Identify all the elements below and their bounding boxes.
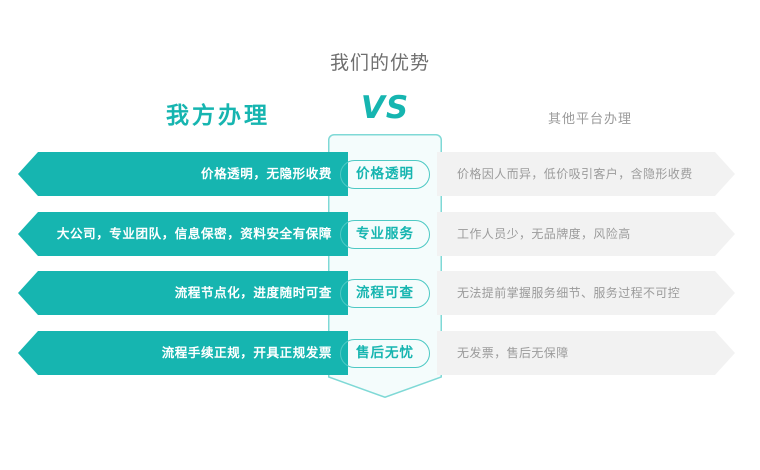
comparison-infographic: 我们的优势 我方办理 VS 其他平台办理 价格透明，无隐形收费 价格透明 价格因…	[0, 0, 760, 470]
comparison-row: 流程节点化，进度随时可查 流程可查 无法提前掌握服务细节、服务过程不可控	[0, 271, 760, 315]
feature-pill: 售后无忧	[340, 339, 430, 368]
vs-label: VS	[330, 90, 440, 126]
advantage-text: 价格透明，无隐形收费	[201, 152, 332, 196]
drawback-text: 价格因人而异，低价吸引客户，含隐形收费	[457, 152, 693, 196]
advantage-text: 流程手续正规，开具正规发票	[162, 331, 332, 375]
drawback-bar: 价格因人而异，低价吸引客户，含隐形收费	[437, 152, 735, 196]
comparison-row: 大公司，专业团队，信息保密，资料安全有保障 专业服务 工作人员少，无品牌度，风险…	[0, 212, 760, 256]
drawback-bar: 工作人员少，无品牌度，风险高	[437, 212, 735, 256]
advantage-text: 流程节点化，进度随时可查	[175, 271, 332, 315]
drawback-text: 无发票，售后无保障	[457, 331, 569, 375]
drawback-bar: 无发票，售后无保障	[437, 331, 735, 375]
column-header-ours: 我方办理	[118, 96, 318, 130]
drawback-bar: 无法提前掌握服务细节、服务过程不可控	[437, 271, 735, 315]
comparison-row: 流程手续正规，开具正规发票 售后无忧 无发票，售后无保障	[0, 331, 760, 375]
advantage-bar: 大公司，专业团队，信息保密，资料安全有保障	[18, 212, 348, 256]
page-title: 我们的优势	[0, 48, 760, 75]
advantage-bar: 价格透明，无隐形收费	[18, 152, 348, 196]
feature-pill: 流程可查	[340, 279, 430, 308]
advantage-bar: 流程节点化，进度随时可查	[18, 271, 348, 315]
feature-pill: 价格透明	[340, 160, 430, 189]
feature-pill: 专业服务	[340, 220, 430, 249]
drawback-text: 工作人员少，无品牌度，风险高	[457, 212, 631, 256]
comparison-row: 价格透明，无隐形收费 价格透明 价格因人而异，低价吸引客户，含隐形收费	[0, 152, 760, 196]
column-header-others: 其他平台办理	[480, 108, 700, 127]
advantage-text: 大公司，专业团队，信息保密，资料安全有保障	[57, 212, 332, 256]
drawback-text: 无法提前掌握服务细节、服务过程不可控	[457, 271, 680, 315]
advantage-bar: 流程手续正规，开具正规发票	[18, 331, 348, 375]
